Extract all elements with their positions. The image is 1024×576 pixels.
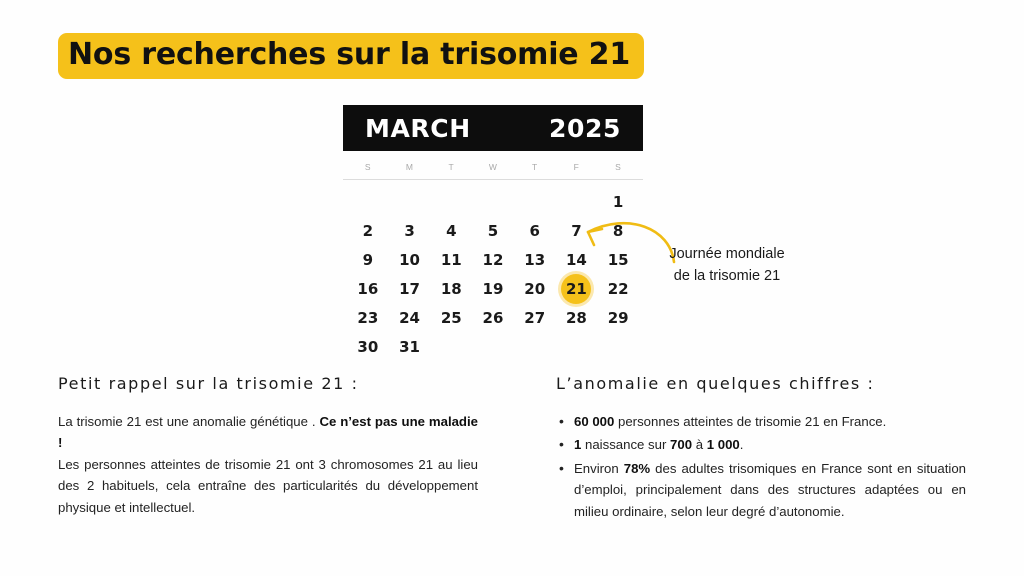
annotation-line-2: de la trisomie 21	[652, 265, 802, 287]
calendar-day[interactable]: 12	[472, 245, 514, 274]
left-text-column: Petit rappel sur la trisomie 21 : La tri…	[58, 374, 478, 518]
fact-1-bold2: 700	[670, 437, 692, 452]
fact-1-text1: naissance sur	[581, 437, 670, 452]
calendar-day-blank	[472, 187, 514, 216]
calendar-day[interactable]: 9	[347, 245, 389, 274]
calendar-day-blank	[389, 187, 431, 216]
calendar-day[interactable]: 26	[472, 303, 514, 332]
title-highlight-band: Nos recherches sur la trisomie 21	[58, 33, 644, 79]
calendar-day[interactable]: 10	[389, 245, 431, 274]
calendar-weekday-1: M	[389, 162, 431, 172]
calendar-day[interactable]: 17	[389, 274, 431, 303]
calendar-weekday-3: W	[472, 162, 514, 172]
calendar-weekday-2: T	[430, 162, 472, 172]
calendar-annotation: Journée mondiale de la trisomie 21	[652, 243, 802, 288]
calendar-day[interactable]: 28	[556, 303, 598, 332]
calendar-day[interactable]: 3	[389, 216, 431, 245]
calendar-day[interactable]: 25	[430, 303, 472, 332]
calendar-day[interactable]: 29	[597, 303, 639, 332]
fact-0-text1: personnes atteintes de trisomie 21 en Fr…	[614, 414, 886, 429]
calendar-day-blank	[430, 187, 472, 216]
calendar-day[interactable]: 27	[514, 303, 556, 332]
fact-2-bold1: 78%	[624, 461, 650, 476]
calendar-day[interactable]: 16	[347, 274, 389, 303]
calendar-day[interactable]: 30	[347, 332, 389, 361]
left-paragraph-1: La trisomie 21 est une anomalie génétiqu…	[58, 411, 478, 454]
calendar-day-blank	[514, 187, 556, 216]
annotation-line-1: Journée mondiale	[652, 243, 802, 265]
fact-1-text3: .	[740, 437, 744, 452]
calendar-weekday-4: T	[514, 162, 556, 172]
calendar-day[interactable]: 2	[347, 216, 389, 245]
left-column-heading: Petit rappel sur la trisomie 21 :	[58, 374, 478, 393]
calendar-day-blank	[347, 187, 389, 216]
fact-2-text0: Environ	[574, 461, 624, 476]
calendar-day[interactable]: 4	[430, 216, 472, 245]
calendar-weekday-row: SMTWTFS	[343, 162, 643, 172]
calendar-header: MARCH 2025	[343, 105, 643, 151]
fact-1-text2: à	[692, 437, 707, 452]
right-text-column: L’anomalie en quelques chiffres : 60 000…	[556, 374, 966, 524]
calendar-day[interactable]: 24	[389, 303, 431, 332]
calendar-day[interactable]: 5	[472, 216, 514, 245]
calendar-weekday-0: S	[347, 162, 389, 172]
calendar-month-label: MARCH	[365, 114, 471, 143]
page-title: Nos recherches sur la trisomie 21	[58, 33, 644, 79]
left-paragraph-2: Les personnes atteintes de trisomie 21 o…	[58, 454, 478, 518]
calendar-day[interactable]: 19	[472, 274, 514, 303]
calendar-day[interactable]: 31	[389, 332, 431, 361]
calendar-day-highlighted[interactable]: 21	[556, 274, 598, 303]
fact-item: 60 000 personnes atteintes de trisomie 2…	[556, 411, 966, 432]
calendar-weekday-6: S	[597, 162, 639, 172]
calendar-day[interactable]: 13	[514, 245, 556, 274]
calendar-day[interactable]: 6	[514, 216, 556, 245]
slide-canvas: Nos recherches sur la trisomie 21 MARCH …	[0, 0, 1024, 576]
calendar-day[interactable]: 22	[597, 274, 639, 303]
facts-list: 60 000 personnes atteintes de trisomie 2…	[556, 411, 966, 522]
calendar-day[interactable]: 23	[347, 303, 389, 332]
left-paragraph-1-plain: La trisomie 21 est une anomalie génétiqu…	[58, 414, 319, 429]
page-title-text: Nos recherches sur la trisomie 21	[68, 37, 630, 72]
right-column-heading: L’anomalie en quelques chiffres :	[556, 374, 966, 393]
calendar-divider	[343, 179, 643, 180]
fact-0-bold1: 60 000	[574, 414, 614, 429]
calendar-day[interactable]: 11	[430, 245, 472, 274]
fact-item: Environ 78% des adultes trisomiques en F…	[556, 458, 966, 522]
calendar-year-label: 2025	[549, 114, 621, 143]
calendar-day[interactable]: 20	[514, 274, 556, 303]
calendar-weekday-5: F	[556, 162, 598, 172]
calendar-day[interactable]: 18	[430, 274, 472, 303]
fact-1-bold3: 1 000	[707, 437, 740, 452]
fact-item: 1 naissance sur 700 à 1 000.	[556, 434, 966, 455]
